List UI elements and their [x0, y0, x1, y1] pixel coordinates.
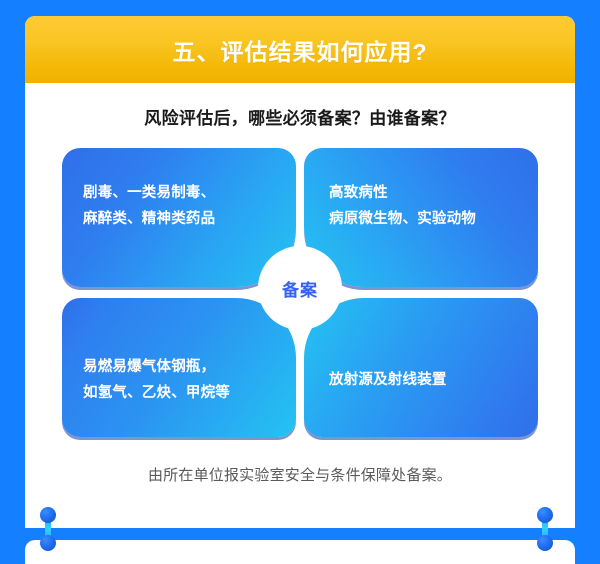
- page-title: 五、评估结果如何应用?: [172, 33, 427, 67]
- section-header-banner: 五、评估结果如何应用?: [25, 16, 575, 83]
- quadrant-line: 病原微生物、实验动物: [329, 207, 476, 232]
- quadrant-label: 放射源及射线装置: [329, 342, 447, 393]
- quadrant-line: 易燃易爆气体钢瓶，: [83, 355, 230, 380]
- quadrant-card-pathogens[interactable]: 高致病性 病原微生物、实验动物: [304, 148, 538, 287]
- quadrant-line: 麻醉类、精神类药品: [83, 207, 215, 232]
- quadrant-card-toxic-drugs[interactable]: 剧毒、一类易制毒、 麻醉类、精神类药品: [62, 148, 296, 287]
- quadrant-label: 剧毒、一类易制毒、 麻醉类、精神类药品: [83, 181, 215, 254]
- quadrant-grid: 剧毒、一类易制毒、 麻醉类、精神类药品 高致病性 病原微生物、实验动物 易燃易爆…: [62, 148, 538, 437]
- quadrant-line: 放射源及射线装置: [329, 368, 447, 393]
- rivet-knob-top-icon: [40, 507, 56, 523]
- subtitle-question: 风险评估后，哪些必须备案？由谁备案？: [25, 104, 575, 129]
- quadrant-label: 易燃易爆气体钢瓶， 如氢气、乙炔、甲烷等: [83, 329, 230, 406]
- rivet-decoration-left: [40, 507, 56, 551]
- infographic-screen: 五、评估结果如何应用? 风险评估后，哪些必须备案？由谁备案？ 剧毒、一类易制毒、…: [0, 0, 600, 564]
- section-divider-band: [0, 528, 600, 540]
- center-hub-label: 备案: [282, 276, 318, 301]
- quadrant-line: 如氢气、乙炔、甲烷等: [83, 381, 230, 406]
- footnote-text: 由所在单位报实验室安全与条件保障处备案。: [25, 464, 575, 485]
- quadrant-line: 剧毒、一类易制毒、: [83, 181, 215, 206]
- quadrant-line: 高致病性: [329, 181, 476, 206]
- next-content-card: [25, 540, 575, 564]
- quadrant-card-radiation[interactable]: 放射源及射线装置: [304, 298, 538, 437]
- quadrant-card-flammable-gas[interactable]: 易燃易爆气体钢瓶， 如氢气、乙炔、甲烷等: [62, 298, 296, 437]
- rivet-decoration-right: [537, 507, 553, 551]
- content-card: 五、评估结果如何应用? 风险评估后，哪些必须备案？由谁备案？ 剧毒、一类易制毒、…: [25, 16, 575, 537]
- quadrant-label: 高致病性 病原微生物、实验动物: [329, 181, 476, 254]
- rivet-knob-top-icon: [537, 507, 553, 523]
- rivet-knob-bottom-icon: [537, 535, 553, 551]
- center-hub: 备案: [258, 246, 342, 330]
- rivet-knob-bottom-icon: [40, 535, 56, 551]
